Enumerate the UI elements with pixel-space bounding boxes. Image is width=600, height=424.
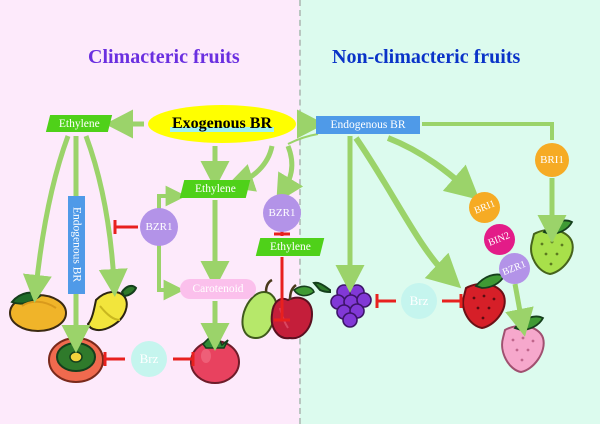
- node-bin2-label: BIN2: [487, 230, 512, 249]
- node-bri1-top[interactable]: BRI1: [535, 143, 569, 177]
- node-bzr1-cascade-label: BZR1: [501, 259, 528, 278]
- node-brz-right-label: Brz: [410, 293, 429, 309]
- node-carotenoid[interactable]: Carotenoid: [180, 279, 256, 299]
- node-ethylene-right[interactable]: Ethylene: [256, 238, 324, 256]
- node-ethylene-mid-label: Ethylene: [195, 183, 236, 195]
- node-endogenous-br-left-label: Endogenous BR: [71, 207, 83, 282]
- node-ethylene-top[interactable]: Ethylene: [46, 115, 112, 132]
- node-endogenous-br-right-label: Endogenous BR: [330, 119, 405, 131]
- edge-bzr1-to-carotenoid: [159, 246, 174, 290]
- edge-inhibit-brz-tomato: [173, 352, 193, 366]
- node-exogenous-br[interactable]: Exogenous BR: [148, 105, 296, 143]
- edge-endogenous-to-bri1-cascade: [388, 138, 466, 188]
- node-bzr1-cascade[interactable]: BZR1: [499, 253, 530, 284]
- node-ethylene-right-label: Ethylene: [270, 241, 311, 253]
- edge-exogenous-curve-to-ethylene-mid: [240, 146, 272, 182]
- diagram-canvas: Climacteric fruits Non-climacteric fruit…: [0, 0, 600, 424]
- node-bzr1-left[interactable]: BZR1: [140, 208, 178, 246]
- node-carotenoid-label: Carotenoid: [192, 283, 243, 295]
- page-title-climacteric: Climacteric fruits: [88, 46, 240, 69]
- node-bzr1-left-label: BZR1: [146, 221, 173, 233]
- node-bin2[interactable]: BIN2: [484, 224, 515, 255]
- edge-exogenous-curve-to-bzr1-mid: [284, 146, 292, 190]
- node-brz-right[interactable]: Brz: [401, 283, 437, 319]
- node-brz-left-label: Brz: [140, 351, 159, 367]
- edge-inhibit-persimmon-brz: [105, 352, 125, 366]
- node-bzr1-mid[interactable]: BZR1: [263, 194, 301, 232]
- node-bzr1-mid-label: BZR1: [269, 207, 296, 219]
- node-brz-left[interactable]: Brz: [131, 341, 167, 377]
- edge-endogenous-to-red-strawberry: [356, 138, 448, 276]
- edge-ethylene-to-banana: [86, 136, 114, 282]
- node-bri1-cascade[interactable]: BRI1: [469, 192, 500, 223]
- node-ethylene-mid[interactable]: Ethylene: [180, 180, 250, 198]
- edge-inhibit-grape-brz: [377, 294, 396, 308]
- edge-endogenous-to-bri1-top: [422, 124, 552, 140]
- edge-bzr1-to-pink-strawberry: [515, 284, 522, 322]
- edge-inhibit-bzr1-left: [114, 220, 138, 234]
- edge-inhibit-brz-red-strawberry: [442, 294, 461, 308]
- node-exogenous-br-label: Exogenous BR: [170, 115, 274, 133]
- edge-ethylene-to-mango: [36, 136, 68, 288]
- edge-endogenous-left-tail: [288, 134, 318, 144]
- edge-inhibit-ethylene-right-fruit: [274, 257, 290, 320]
- node-endogenous-br-right[interactable]: Endogenous BR: [316, 116, 420, 134]
- page-title-non-climacteric: Non-climacteric fruits: [332, 46, 520, 69]
- node-endogenous-br-left[interactable]: Endogenous BR: [68, 196, 85, 294]
- node-ethylene-top-label: Ethylene: [59, 118, 100, 130]
- node-bri1-top-label: BRI1: [540, 154, 564, 166]
- node-bri1-cascade-label: BRI1: [472, 198, 496, 216]
